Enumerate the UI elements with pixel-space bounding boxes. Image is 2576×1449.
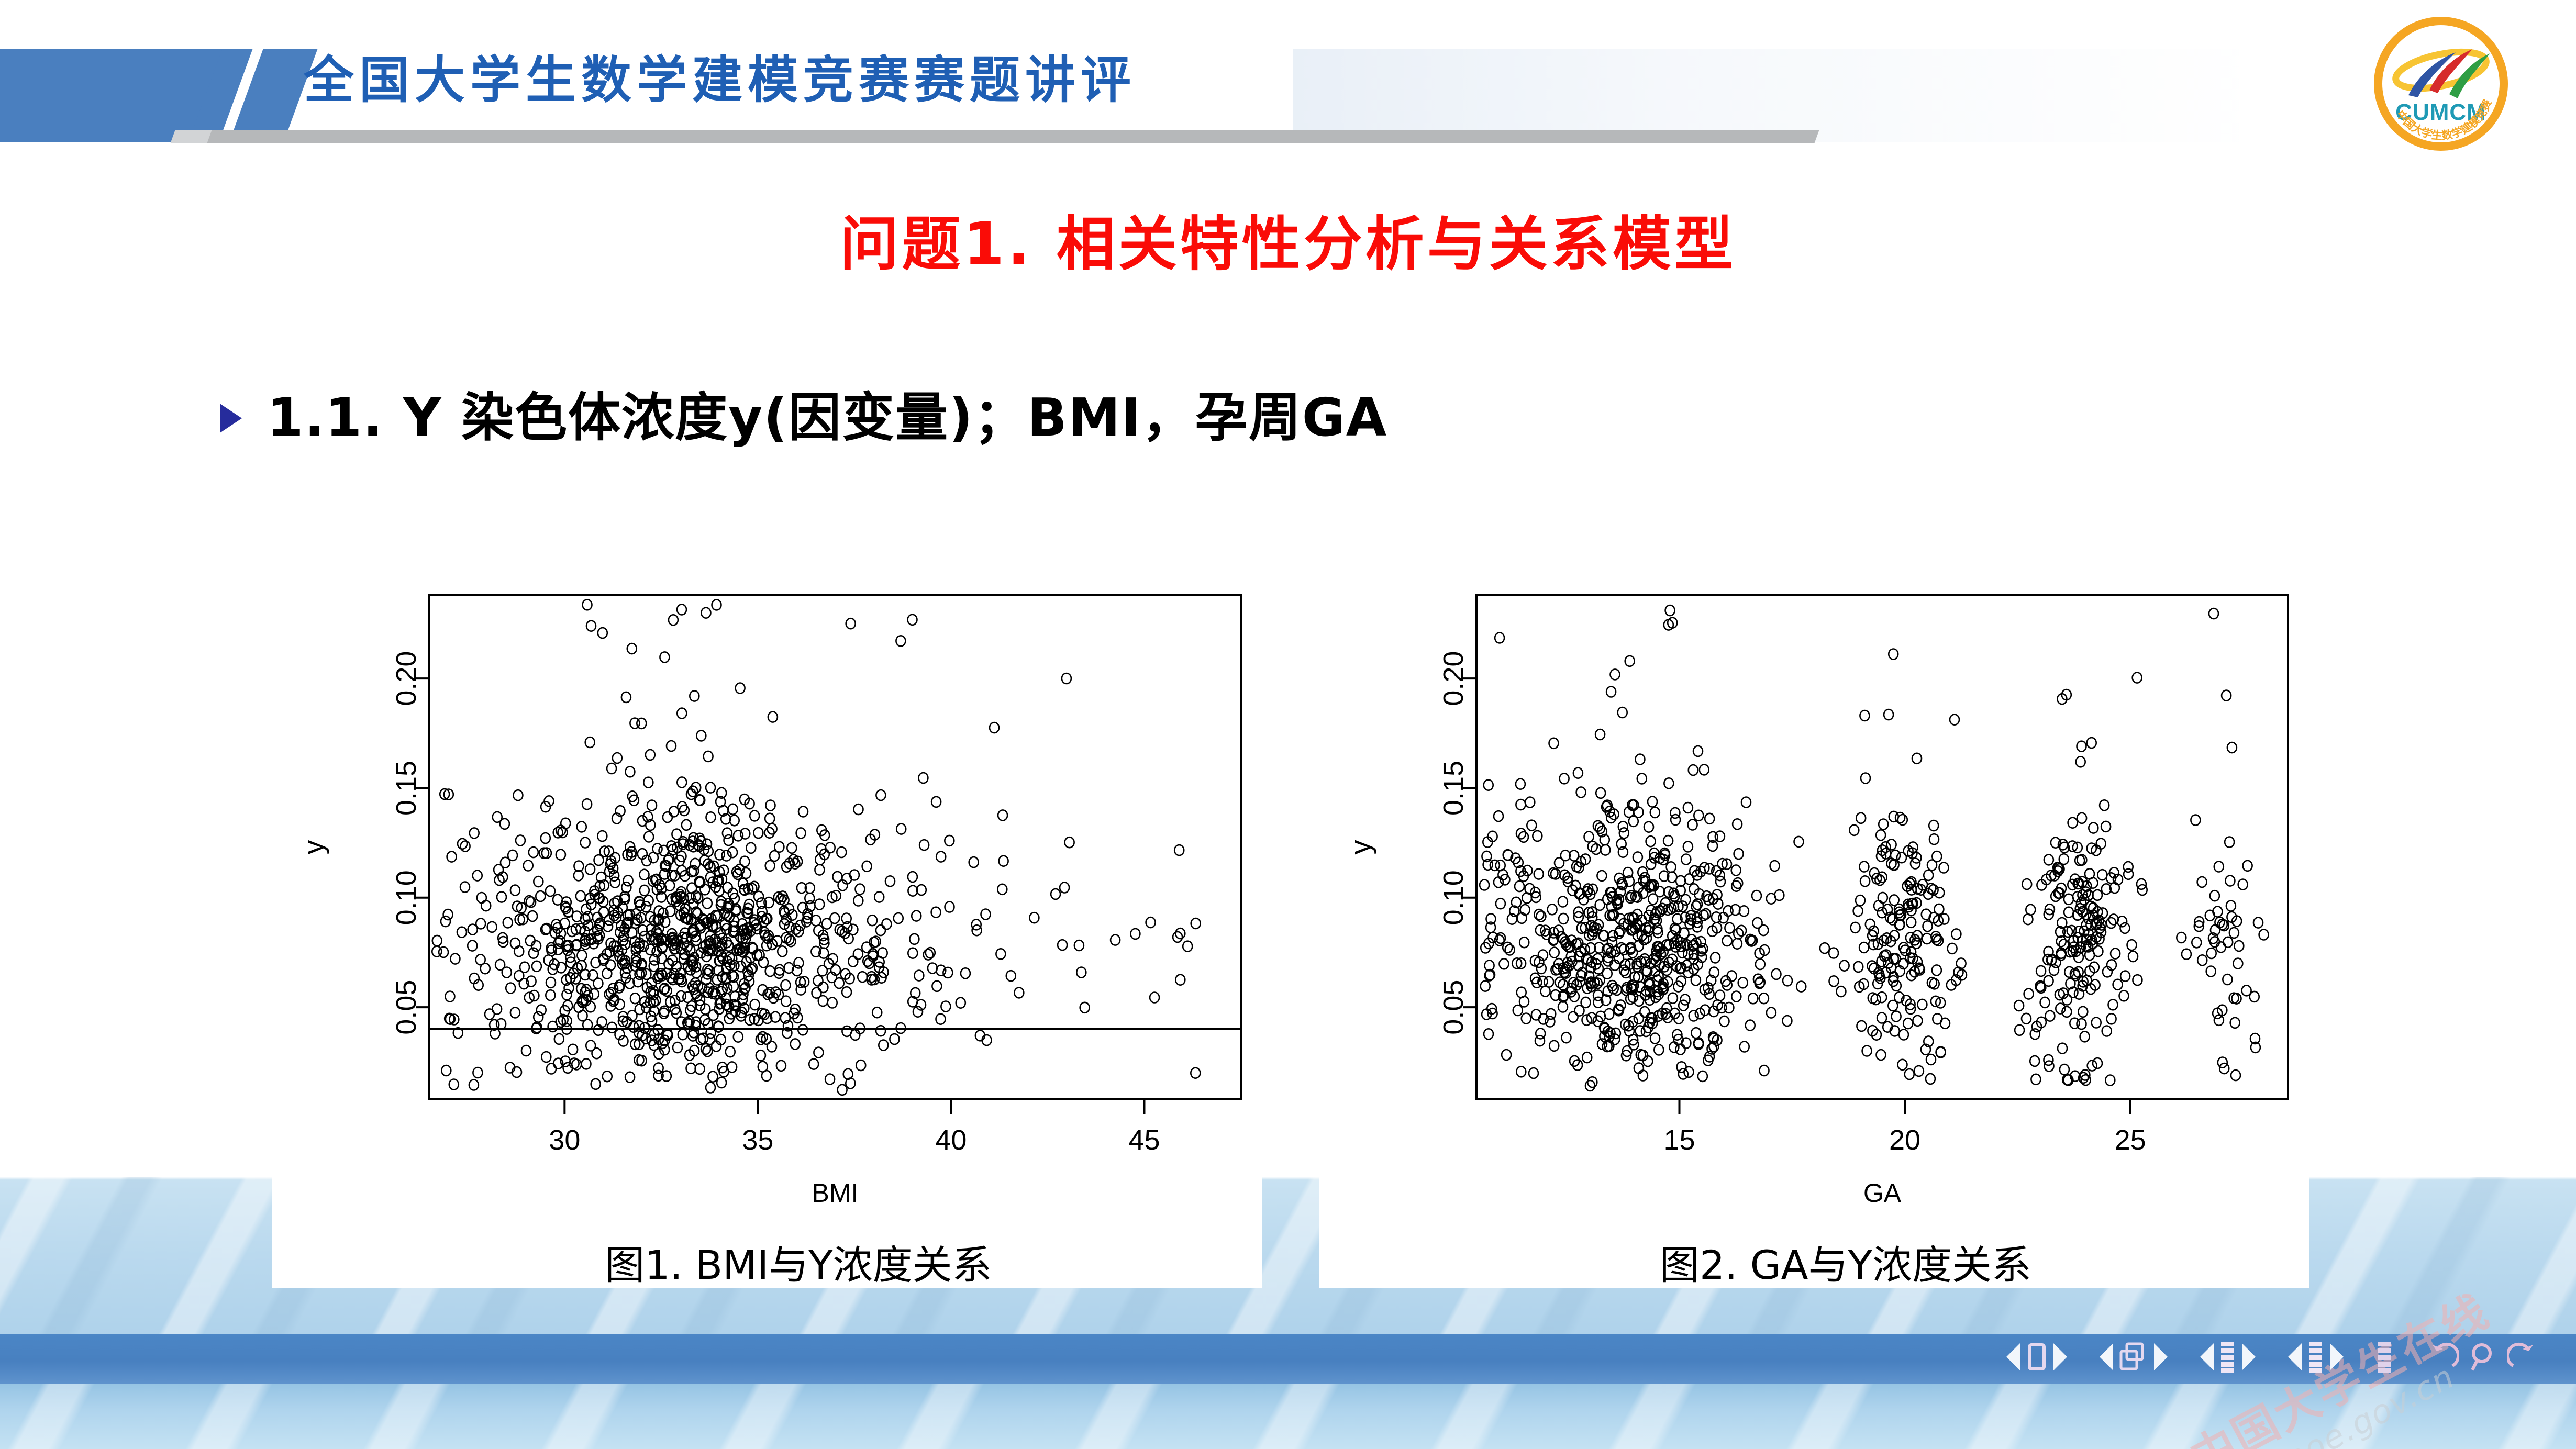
nav-group-list-2[interactable] [2288, 1341, 2344, 1373]
slide-canvas: 全国大学生数学建模竞赛赛题讲评 CUMCM 中国大学生数学建模竞赛 [0, 0, 2576, 1449]
next-list-icon[interactable] [2242, 1343, 2256, 1370]
svg-text:35: 35 [742, 1124, 773, 1156]
svg-text:15: 15 [1663, 1124, 1695, 1156]
slideshow-navigation-bar[interactable] [2006, 1334, 2539, 1380]
figure-panel-1: 0.050.100.150.20y30354045BMI 图1. BMI与Y浓度… [272, 578, 1262, 1288]
cumcm-logo: CUMCM 中国大学生数学建模竞赛 [2368, 7, 2514, 154]
svg-text:y: y [1344, 840, 1377, 855]
svg-text:0.10: 0.10 [1438, 870, 1469, 925]
bullet-triangle-icon [220, 404, 242, 433]
cumcm-logo-icon: CUMCM 中国大学生数学建模竞赛 [2368, 7, 2514, 154]
bullet-row: 1.1. Y 染色体浓度y(因变量)；BMI，孕周GA [220, 375, 1387, 451]
svg-text:GA: GA [1863, 1178, 1902, 1208]
svg-text:45: 45 [1128, 1124, 1160, 1156]
copy-slides-icon[interactable] [2118, 1342, 2149, 1372]
svg-text:BMI: BMI [812, 1178, 859, 1208]
svg-text:0.20: 0.20 [391, 651, 422, 706]
svg-text:0.15: 0.15 [1438, 761, 1469, 816]
prev-notes-icon[interactable] [2288, 1343, 2302, 1370]
svg-text:0.10: 0.10 [391, 870, 422, 925]
notes-list-icon[interactable] [2307, 1341, 2325, 1373]
scatter-plot-bmi: 0.050.100.150.20y30354045BMI [272, 578, 1262, 1230]
svg-text:0.05: 0.05 [391, 980, 422, 1035]
slide-page-icon[interactable] [2025, 1342, 2048, 1372]
svg-text:30: 30 [549, 1124, 580, 1156]
svg-text:40: 40 [935, 1124, 967, 1156]
scatter-plot-ga: 0.050.100.150.20y152025GA [1319, 578, 2309, 1230]
svg-text:y: y [297, 840, 330, 855]
prev-list-icon[interactable] [2200, 1343, 2214, 1370]
nav-group-list-1[interactable] [2200, 1341, 2256, 1373]
nav-group-section[interactable] [2100, 1342, 2168, 1372]
page-title: 问题1. 相关特性分析与关系模型 [0, 197, 2576, 282]
undo-icon[interactable] [2426, 1341, 2459, 1373]
background-lower-stripes [0, 1384, 2576, 1449]
outline-list-icon[interactable] [2219, 1341, 2237, 1373]
figure-caption-2: 图2. GA与Y浓度关系 [1351, 1233, 2340, 1290]
zoom-icon[interactable] [2468, 1341, 2497, 1373]
prev-section-icon[interactable] [2100, 1343, 2113, 1370]
header-grey-bar [207, 130, 1819, 143]
slide-header: 全国大学生数学建模竞赛赛题讲评 CUMCM 中国大学生数学建模竞赛 [0, 0, 2576, 157]
next-notes-icon[interactable] [2330, 1343, 2344, 1370]
svg-text:20: 20 [1889, 1124, 1920, 1156]
svg-text:0.15: 0.15 [391, 761, 422, 816]
figure-caption-1: 图1. BMI与Y浓度关系 [304, 1233, 1293, 1290]
svg-text:0.05: 0.05 [1438, 980, 1469, 1035]
figure-panel-2: 0.050.100.150.20y152025GA 图2. GA与Y浓度关系 [1319, 578, 2309, 1288]
nav-group-slide[interactable] [2006, 1342, 2067, 1372]
next-section-icon[interactable] [2154, 1343, 2168, 1370]
detail-list-icon[interactable] [2376, 1341, 2394, 1373]
bullet-text: 1.1. Y 染色体浓度y(因变量)；BMI，孕周GA [267, 375, 1387, 451]
header-accent-gradient [1293, 49, 2262, 142]
header-title: 全国大学生数学建模竞赛赛题讲评 [304, 50, 1136, 110]
svg-text:0.20: 0.20 [1438, 651, 1469, 706]
next-slide-icon[interactable] [2053, 1343, 2067, 1370]
prev-slide-icon[interactable] [2006, 1343, 2020, 1370]
redo-icon[interactable] [2507, 1341, 2539, 1373]
svg-text:25: 25 [2115, 1124, 2146, 1156]
